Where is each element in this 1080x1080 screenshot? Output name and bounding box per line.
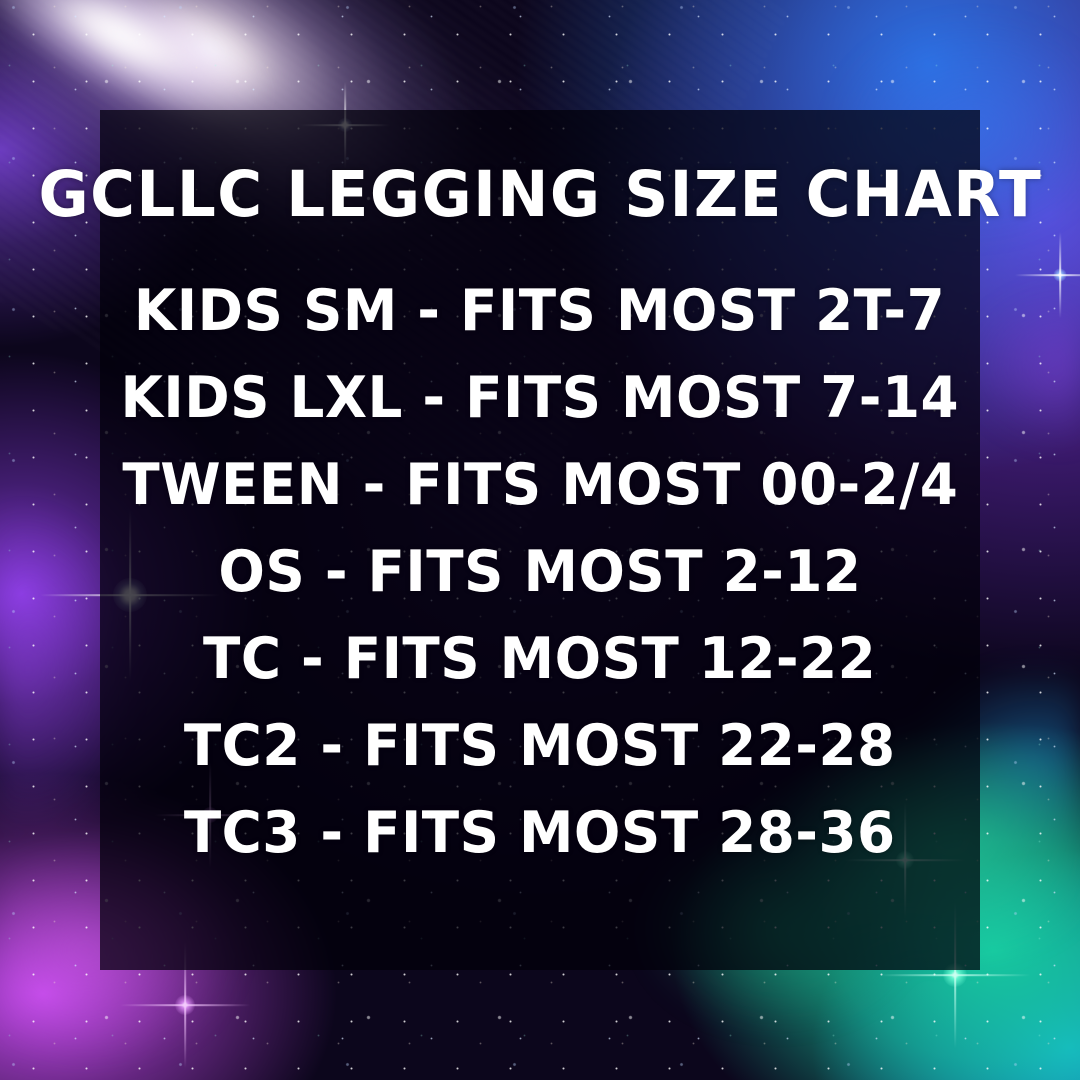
size-chart-graphic: GCLLC LEGGING SIZE CHART KIDS SM - FITS … xyxy=(0,0,1080,1080)
size-row: KIDS SM - FITS MOST 2T-7 xyxy=(134,268,945,355)
size-row: TC3 - FITS MOST 28-36 xyxy=(184,790,896,877)
size-row: OS - FITS MOST 2-12 xyxy=(218,529,861,616)
size-row: KIDS LXL - FITS MOST 7-14 xyxy=(121,355,960,442)
chart-content: GCLLC LEGGING SIZE CHART KIDS SM - FITS … xyxy=(0,0,1080,1080)
size-row-list: KIDS SM - FITS MOST 2T-7 KIDS LXL - FITS… xyxy=(0,268,1080,877)
size-row: TWEEN - FITS MOST 00-2/4 xyxy=(122,442,958,529)
page-title: GCLLC LEGGING SIZE CHART xyxy=(38,163,1042,226)
size-row: TC - FITS MOST 12-22 xyxy=(203,616,876,703)
size-row: TC2 - FITS MOST 22-28 xyxy=(184,703,896,790)
